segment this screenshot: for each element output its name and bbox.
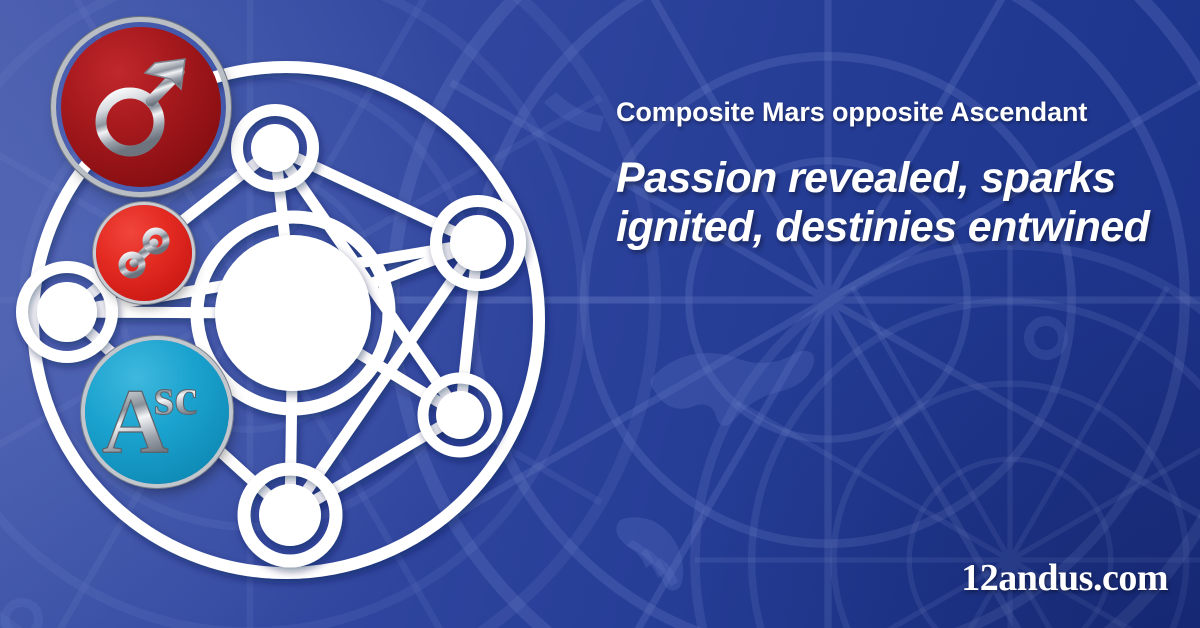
social-share-card: A sc Composite Mars opposite Ascendant P…	[0, 0, 1200, 628]
network-hub	[215, 235, 371, 391]
site-watermark: 12andus.com	[961, 556, 1168, 600]
text-block: Composite Mars opposite Ascendant Passio…	[616, 96, 1168, 252]
opposition-aspect-icon	[112, 221, 176, 285]
ascendant-letters-sc: sc	[154, 369, 197, 426]
tagline-line-2: ignited, destinies entwined	[616, 203, 1168, 252]
ascendant-symbol-icon: A sc	[98, 364, 216, 460]
tagline-line-1: Passion revealed, sparks	[616, 154, 1168, 203]
opposition-aspect-badge	[96, 205, 192, 301]
mars-symbol-icon	[81, 47, 201, 167]
headline: Composite Mars opposite Ascendant	[616, 96, 1168, 128]
ascendant-badge: A sc	[85, 340, 229, 484]
tagline: Passion revealed, sparks ignited, destin…	[616, 154, 1168, 251]
mars-planet-badge	[56, 22, 226, 192]
